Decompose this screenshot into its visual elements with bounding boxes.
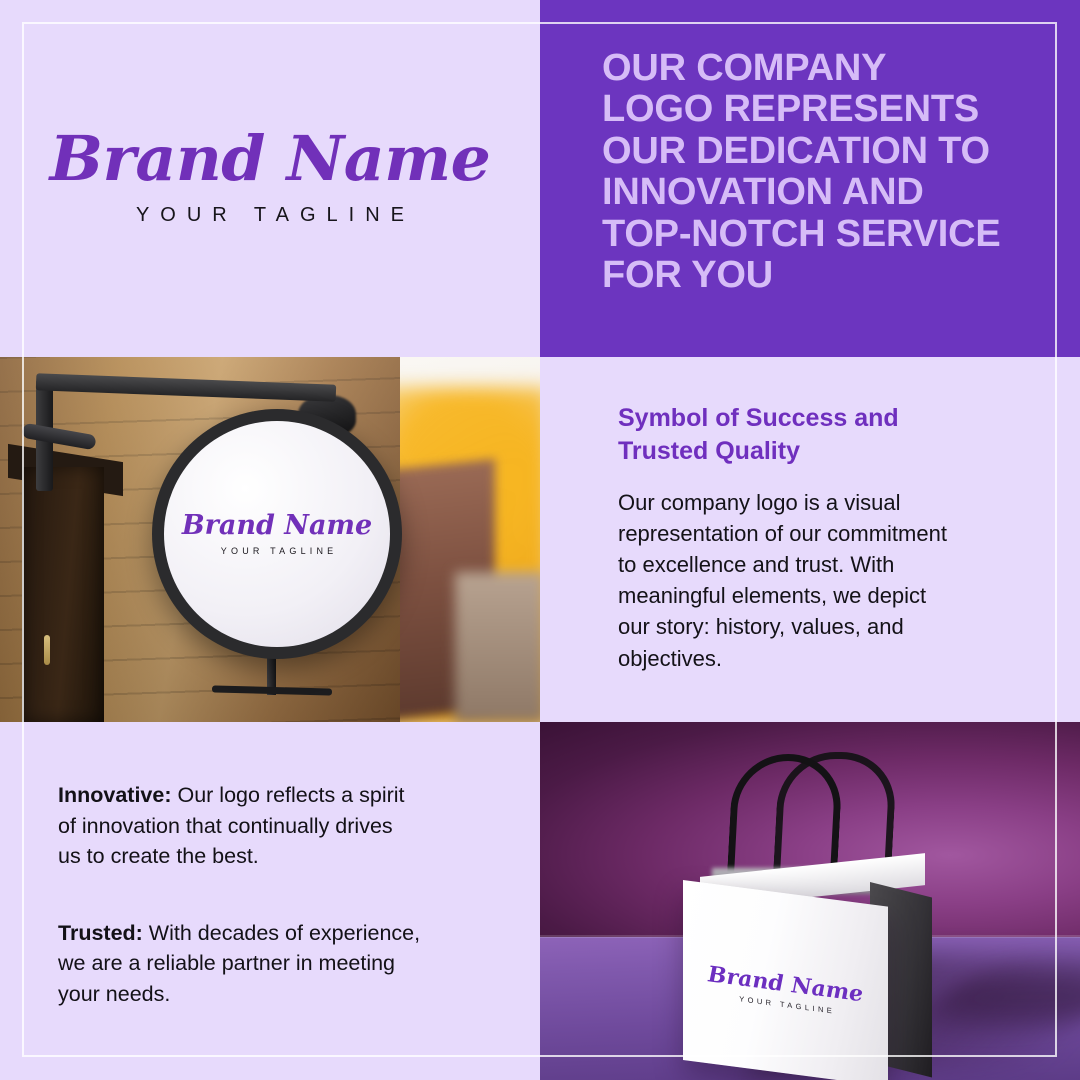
- storefront-photo: Brand Name YOUR TAGLINE: [0, 357, 540, 722]
- key-point-innovative: Innovative: Our logo reflects a spirit o…: [58, 780, 504, 872]
- key-points-panel: Innovative: Our logo reflects a spirit o…: [0, 722, 540, 1080]
- headline-panel: OUR COMPANY LOGO REPRESENTS OUR DEDICATI…: [540, 0, 1080, 357]
- sign-brand-name: Brand Name: [182, 512, 372, 539]
- logo-lockup: Brand Name YOUR TAGLINE: [0, 128, 540, 227]
- description-body: Our company logo is a visual representat…: [618, 487, 1046, 674]
- shopping-bag-photo: Brand Name YOUR TAGLINE: [540, 722, 1080, 1080]
- brand-name-text: Brand Name: [0, 128, 540, 190]
- description-title: Symbol of Success and Trusted Quality: [618, 402, 1046, 469]
- bag-scene: Brand Name YOUR TAGLINE: [540, 722, 1080, 1080]
- background-building-far: [455, 572, 540, 722]
- logo-panel: Brand Name YOUR TAGLINE: [0, 0, 540, 357]
- poster-canvas: Brand Name YOUR TAGLINE OUR COMPANY LOGO…: [0, 0, 1080, 1080]
- key-point-trusted-label: Trusted:: [58, 921, 143, 945]
- door-handle: [44, 635, 50, 665]
- headline-text: OUR COMPANY LOGO REPRESENTS OUR DEDICATI…: [602, 48, 1054, 296]
- key-point-innovative-label: Innovative:: [58, 783, 172, 807]
- storefront-scene: Brand Name YOUR TAGLINE: [0, 357, 540, 722]
- description-wrapper: Symbol of Success and Trusted Quality Ou…: [618, 402, 1046, 674]
- sign-face: Brand Name YOUR TAGLINE: [164, 421, 390, 647]
- round-shop-sign: Brand Name YOUR TAGLINE: [152, 409, 402, 659]
- bag-front-panel: Brand Name YOUR TAGLINE: [683, 880, 888, 1080]
- key-point-trusted: Trusted: With decades of experience, we …: [58, 918, 504, 1010]
- bag-logo-lockup: Brand Name YOUR TAGLINE: [683, 960, 888, 1023]
- sign-brand-tagline: YOUR TAGLINE: [217, 546, 338, 556]
- shop-door: [22, 467, 104, 722]
- description-panel: Symbol of Success and Trusted Quality Ou…: [540, 357, 1080, 722]
- brand-tagline-text: YOUR TAGLINE: [0, 204, 540, 227]
- key-points-wrapper: Innovative: Our logo reflects a spirit o…: [58, 780, 504, 1009]
